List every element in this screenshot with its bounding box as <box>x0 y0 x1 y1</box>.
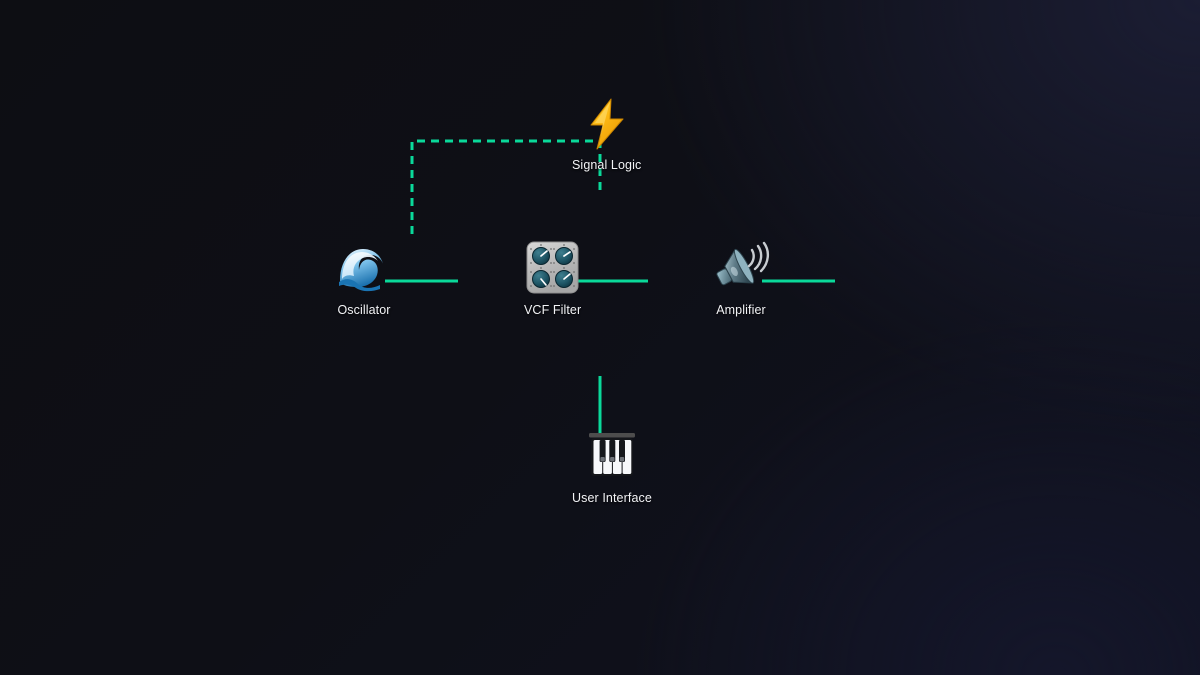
footer: Vectree electrophone vectree.io/c/electr… <box>0 560 1200 675</box>
lightning-bolt-icon <box>579 98 635 150</box>
musical-keyboard-icon <box>584 427 640 483</box>
node-label: Oscillator <box>337 303 390 317</box>
water-wave-icon <box>336 239 392 295</box>
node-vcf-filter[interactable]: VCF Filter <box>524 239 581 317</box>
node-amplifier[interactable]: Amplifier <box>713 239 769 317</box>
control-knobs-icon <box>525 239 581 295</box>
node-oscillator[interactable]: Oscillator <box>336 239 392 317</box>
node-label: User Interface <box>572 491 652 505</box>
loudspeaker-icon <box>713 239 769 295</box>
node-signal-logic[interactable]: Signal Logic <box>572 98 641 172</box>
node-user-interface[interactable]: User Interface <box>572 427 652 505</box>
node-label: VCF Filter <box>524 303 581 317</box>
node-label: Signal Logic <box>572 158 641 172</box>
node-label: Amplifier <box>716 303 766 317</box>
